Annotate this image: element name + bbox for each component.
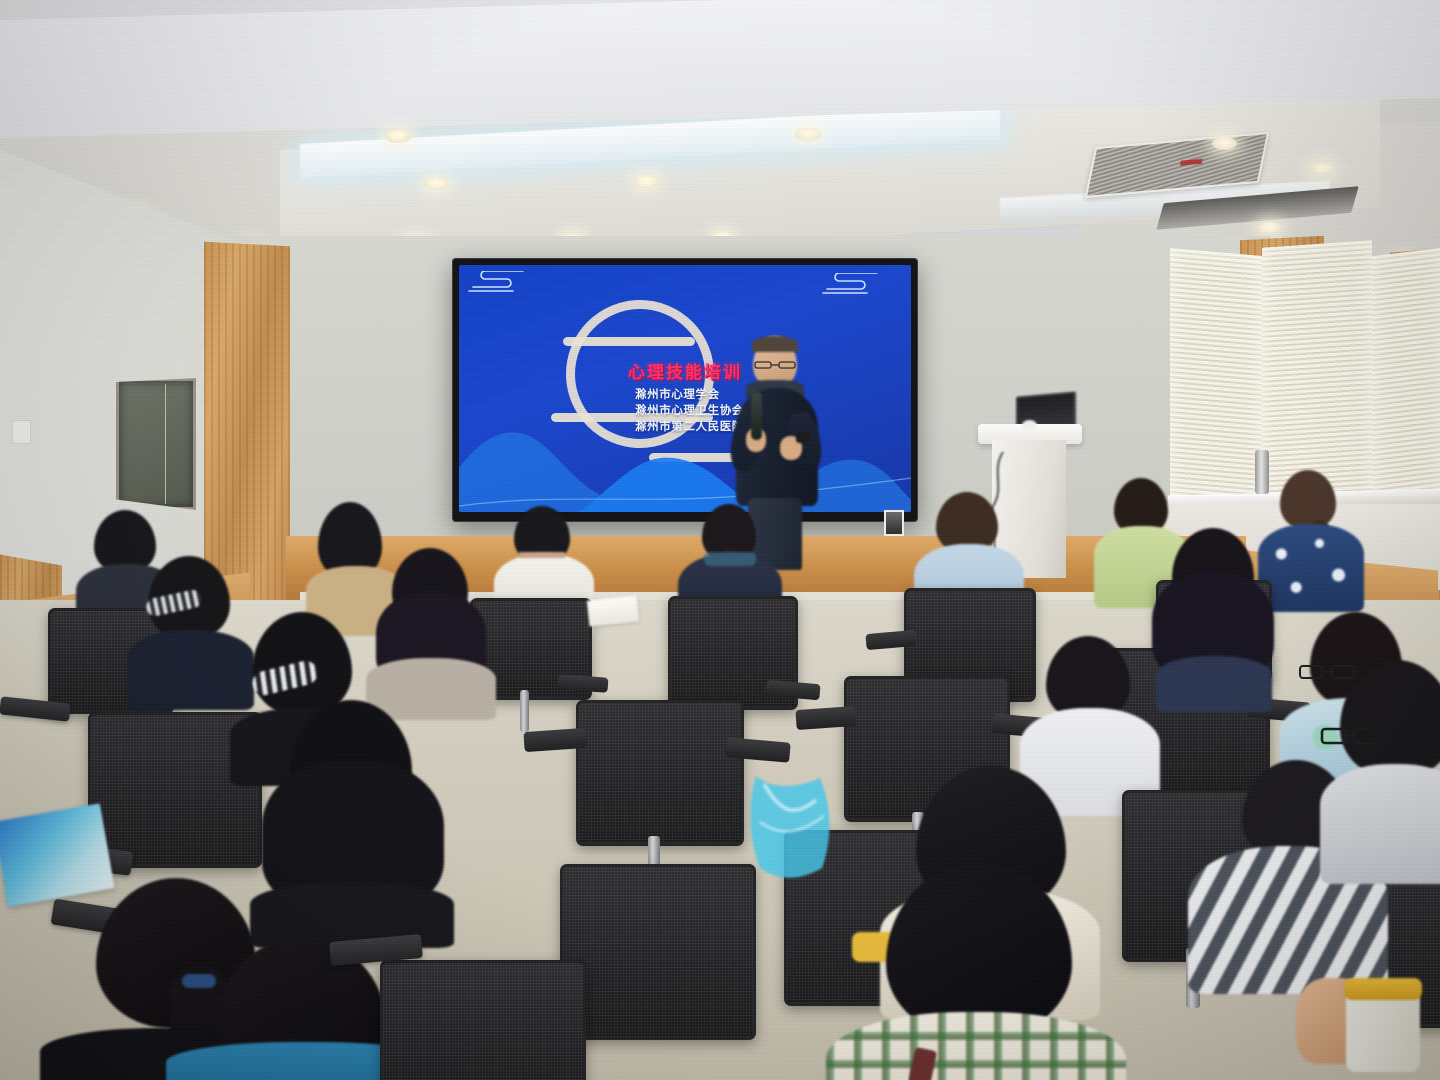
audience-person [364, 548, 496, 718]
glasses-icon [754, 356, 796, 364]
downlight-icon [1310, 163, 1334, 175]
chair-post [520, 690, 529, 732]
audience-person [826, 862, 1126, 1080]
chair[interactable] [560, 864, 756, 1040]
slide-canvas: 心理技能培训 滁州市心理学会 滁州市心理卫生协会 滁州市第二人民医院 [459, 265, 911, 512]
slide-title: 心理技能培训 [459, 358, 911, 383]
presentation-display: 心理技能培训 滁州市心理学会 滁州市心理卫生协会 滁州市第二人民医院 [452, 258, 918, 522]
chair[interactable] [380, 960, 586, 1080]
presenter-hair [752, 336, 798, 352]
control-room-window [116, 378, 196, 510]
notebook [587, 595, 639, 626]
downlight-icon [1212, 137, 1237, 150]
mouse-icon[interactable] [1022, 420, 1037, 431]
photo-scene: 心理技能培训 滁州市心理学会 滁州市心理卫生协会 滁州市第二人民医院 [0, 0, 1440, 1080]
chair-armrest [795, 706, 856, 730]
ir-sensor-icon [884, 510, 904, 536]
audience-person [1320, 660, 1440, 880]
cloud-motif-icon-left [467, 271, 527, 293]
slide-bar-1 [563, 337, 695, 346]
downlight-icon [795, 128, 821, 141]
chair[interactable] [576, 700, 744, 846]
window-blind-3 [1372, 248, 1440, 507]
light-switch[interactable] [12, 420, 31, 444]
cloud-motif-icon-right [821, 273, 881, 295]
audience-person [1146, 528, 1282, 708]
cup-lid [1344, 978, 1422, 1000]
microphone-icon[interactable] [751, 392, 762, 440]
blue-plastic-bag [742, 772, 838, 884]
glasses-icon [1320, 726, 1378, 748]
downlight-icon [424, 178, 449, 190]
downlight-icon [385, 130, 411, 143]
downlight-icon [634, 176, 659, 188]
downlight-icon [1258, 222, 1282, 234]
coffee-cup [1346, 986, 1420, 1072]
window-blind-1 [1170, 248, 1262, 506]
wristwatch-icon [796, 432, 810, 443]
